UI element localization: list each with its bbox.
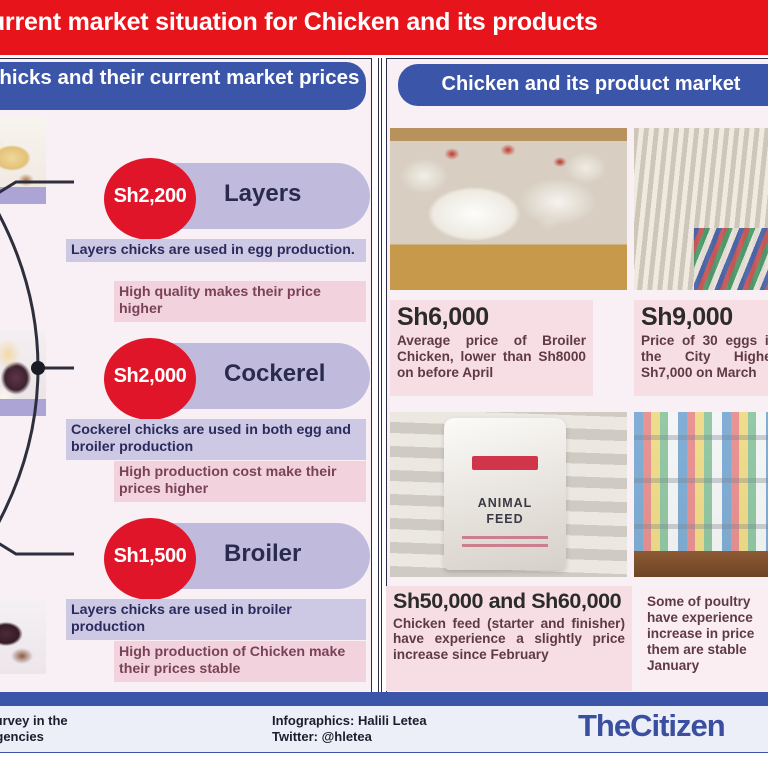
caption-amount: Sh50,000 and Sh60,000 <box>393 590 625 613</box>
price-row-label: Broiler <box>224 540 301 568</box>
divider-inner <box>379 58 381 692</box>
detail-primary: Layers chicks are used in broiler produc… <box>66 599 366 640</box>
footer-credits: Infographics: Halili Letea Twitter: @hle… <box>272 713 427 746</box>
right-panel-heading: Chicken and its product market <box>398 64 768 106</box>
bag-logo <box>472 456 538 470</box>
caption-text: Average price of Broiler Chicken, lower … <box>397 333 586 381</box>
broiler-chick-photo <box>0 600 46 674</box>
footer-source-line1: Survey in the <box>0 713 68 729</box>
tree-connector <box>0 160 80 575</box>
bag-label-line2: FEED <box>444 512 566 526</box>
shelf-base <box>634 551 768 577</box>
caption-text: Some of poultry have experience increase… <box>647 594 768 673</box>
connector-svg <box>0 160 80 575</box>
footer-accent-band <box>0 692 768 704</box>
broiler-chickens-photo <box>390 128 627 290</box>
caption-egg-price: Sh9,000 Price of 30 eggs in the City Hig… <box>634 300 768 396</box>
detail-secondary: High production of Chicken make their pr… <box>114 641 366 682</box>
caption-text: Chicken feed (starter and finisher) have… <box>393 616 625 664</box>
poultry-shop-photo <box>634 412 768 577</box>
detail-secondary: High production cost make their prices h… <box>114 461 366 502</box>
bag-stripe <box>462 536 548 539</box>
tray-stripes <box>694 228 768 290</box>
page-title: Current market situation for Chicken and… <box>0 8 768 37</box>
bag-label-line1: ANIMAL <box>444 496 566 510</box>
caption-text: Price of 30 eggs in the City Higher Sh7,… <box>641 333 768 381</box>
footer-source: Survey in the Agencies <box>0 713 68 746</box>
price-badge: Sh1,500 <box>104 518 196 600</box>
panel-divider <box>378 58 382 692</box>
detail-secondary: High quality makes their price higher <box>114 281 366 322</box>
bag-stripe <box>462 544 548 547</box>
price-value: Sh1,500 <box>104 545 196 568</box>
price-badge: Sh2,200 <box>104 158 196 240</box>
photo-detail <box>390 128 627 290</box>
publisher-logo: TheCitizen <box>578 708 725 744</box>
price-value: Sh2,200 <box>104 185 196 208</box>
caption-poultry-note: Some of poultry have experience increase… <box>640 586 768 691</box>
feed-bag: ANIMAL FEED <box>444 418 566 570</box>
price-badge: Sh2,000 <box>104 338 196 420</box>
detail-primary: Layers chicks are used in egg production… <box>66 239 366 262</box>
caption-amount: Sh6,000 <box>397 304 586 330</box>
egg-trays-photo <box>634 128 768 290</box>
animal-feed-bag-photo: ANIMAL FEED <box>390 412 627 577</box>
page-title-bar: Current market situation for Chicken and… <box>0 0 768 55</box>
price-row-label: Cockerel <box>224 360 325 388</box>
price-value: Sh2,000 <box>104 365 196 388</box>
caption-feed-price: Sh50,000 and Sh60,000 Chicken feed (star… <box>386 586 632 691</box>
footer-source-line2: Agencies <box>0 729 68 745</box>
price-row-label: Layers <box>224 180 301 208</box>
footer-white-strip <box>0 753 768 768</box>
footer-infographics: Infographics: Halili Letea <box>272 713 427 729</box>
caption-broiler-price: Sh6,000 Average price of Broiler Chicken… <box>390 300 593 396</box>
footer: Survey in the Agencies Infographics: Hal… <box>0 704 768 755</box>
infographic-page: Current market situation for Chicken and… <box>0 0 768 768</box>
detail-primary: Cockerel chicks are used in both egg and… <box>66 419 366 460</box>
footer-twitter: Twitter: @hletea <box>272 729 427 745</box>
left-panel-heading: Chicks and their current market prices <box>0 62 366 110</box>
caption-amount: Sh9,000 <box>641 304 768 330</box>
chick-image <box>0 600 46 674</box>
